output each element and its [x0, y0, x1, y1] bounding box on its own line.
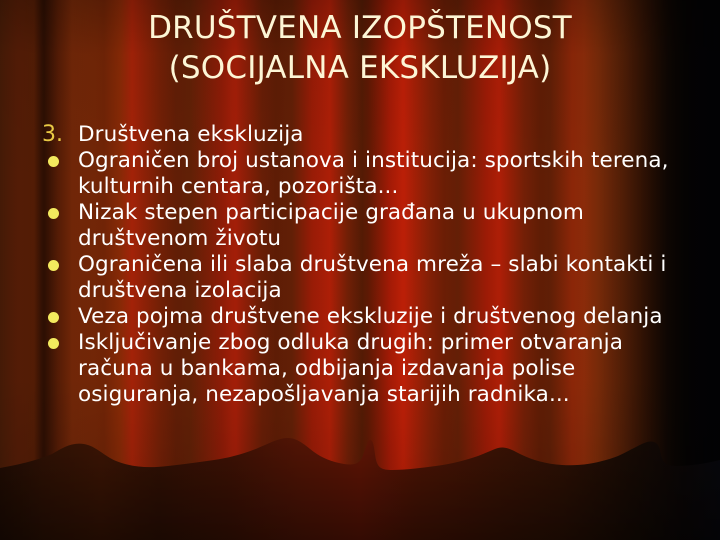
list-item-text: Nizak stepen participacije građana u uku… [78, 200, 688, 252]
list-item-text: Veza pojma društvene ekskluzije i društv… [78, 304, 688, 330]
list-item: Isključivanje zbog odluka drugih: primer… [40, 330, 688, 408]
slide-title-line-1: DRUŠTVENA IZOPŠTENOST [40, 8, 680, 48]
presentation-slide: DRUŠTVENA IZOPŠTENOST (SOCIJALNA EKSKLUZ… [0, 0, 720, 540]
list-item: Ograničena ili slaba društvena mreža – s… [40, 252, 688, 304]
list-item: Ograničen broj ustanova i institucija: s… [40, 148, 688, 200]
list-marker-number: 3. [40, 122, 78, 148]
list-item-text: Isključivanje zbog odluka drugih: primer… [78, 330, 688, 408]
slide-title-line-2: (SOCIJALNA EKSKLUZIJA) [40, 48, 680, 88]
list-item-text: Ograničen broj ustanova i institucija: s… [78, 148, 688, 200]
curtain-hem-wave [0, 420, 720, 540]
slide-title: DRUŠTVENA IZOPŠTENOST (SOCIJALNA EKSKLUZ… [40, 8, 680, 88]
list-item-text: Ograničena ili slaba društvena mreža – s… [78, 252, 688, 304]
list-item: 3. Društvena ekskluzija [40, 122, 688, 148]
list-item: Veza pojma društvene ekskluzije i društv… [40, 304, 688, 330]
bullet-list: 3. Društvena ekskluzija Ograničen broj u… [40, 122, 688, 408]
list-item-text: Društvena ekskluzija [78, 122, 688, 148]
list-item: Nizak stepen participacije građana u uku… [40, 200, 688, 252]
